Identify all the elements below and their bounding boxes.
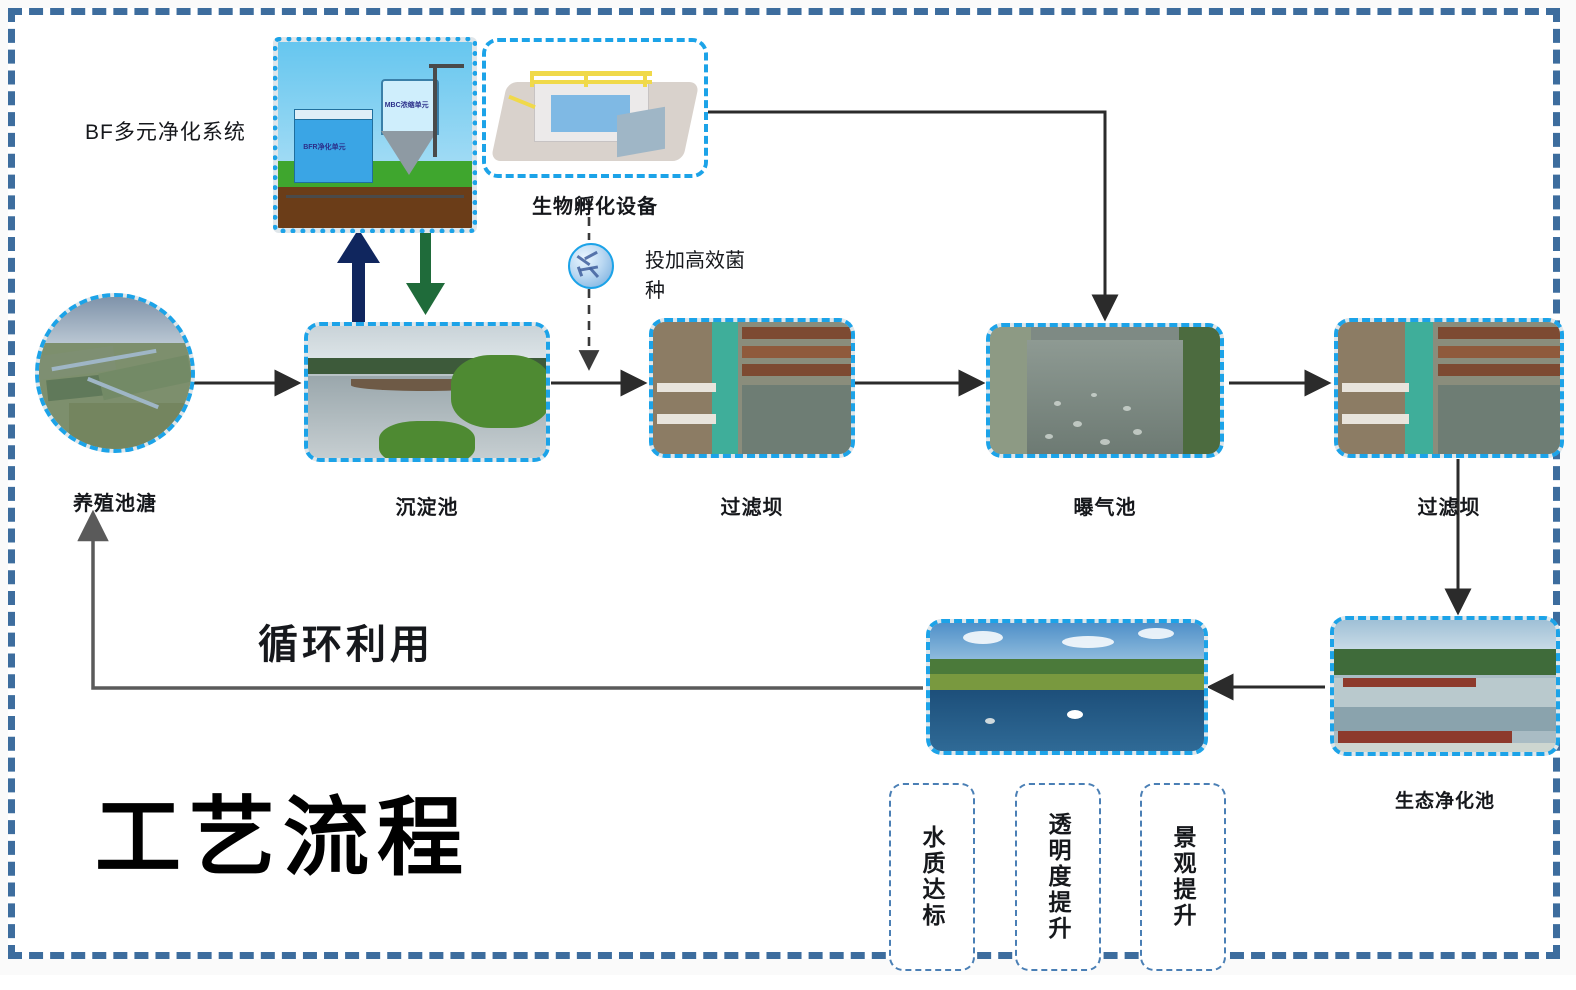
flow-node-sediment	[304, 322, 550, 462]
outcome-chip-transparency: 透明度提升	[1015, 783, 1101, 971]
page-title: 工艺流程	[95, 767, 471, 892]
flow-node-wetland	[926, 619, 1208, 755]
flow-node-pond-label: 养殖池溏	[35, 487, 195, 516]
outcome-chip-landscape-label: 景观提升	[1166, 825, 1200, 929]
flow-node-filter-dam-1-label: 过滤坝	[649, 491, 855, 520]
outcome-chip-landscape: 景观提升	[1140, 783, 1226, 971]
bacteria-icon	[568, 243, 614, 289]
flow-node-filter-dam-2-label: 过滤坝	[1334, 491, 1564, 520]
incubator-image	[482, 38, 708, 178]
incubator-label: 生物孵化设备	[482, 190, 708, 219]
dosing-label: 投加高效菌 种	[645, 246, 745, 306]
flow-node-filter-dam-2	[1334, 318, 1564, 458]
flow-node-aeration-label: 曝气池	[986, 491, 1224, 520]
outcome-chip-water-quality-label: 水质达标	[915, 825, 949, 929]
bf-system-image: BFR净化单元 MBC浓缩单元	[273, 37, 477, 233]
bf-system-label: BF多元净化系统	[85, 116, 246, 146]
flow-node-eco-pond-label: 生态净化池	[1330, 786, 1560, 813]
outcome-chip-transparency-label: 透明度提升	[1041, 812, 1075, 942]
flow-node-filter-dam-1	[649, 318, 855, 458]
flow-node-aeration	[986, 323, 1224, 458]
flow-node-pond	[35, 293, 195, 453]
flow-node-eco-pond	[1330, 616, 1560, 756]
outcome-chip-water-quality: 水质达标	[889, 783, 975, 971]
diagram-frame: BFR净化单元 MBC浓缩单元 BF多元净化系统 生物孵化设备	[8, 8, 1560, 959]
recycle-label: 循环利用	[258, 612, 434, 670]
flow-node-sediment-label: 沉淀池	[304, 491, 550, 520]
